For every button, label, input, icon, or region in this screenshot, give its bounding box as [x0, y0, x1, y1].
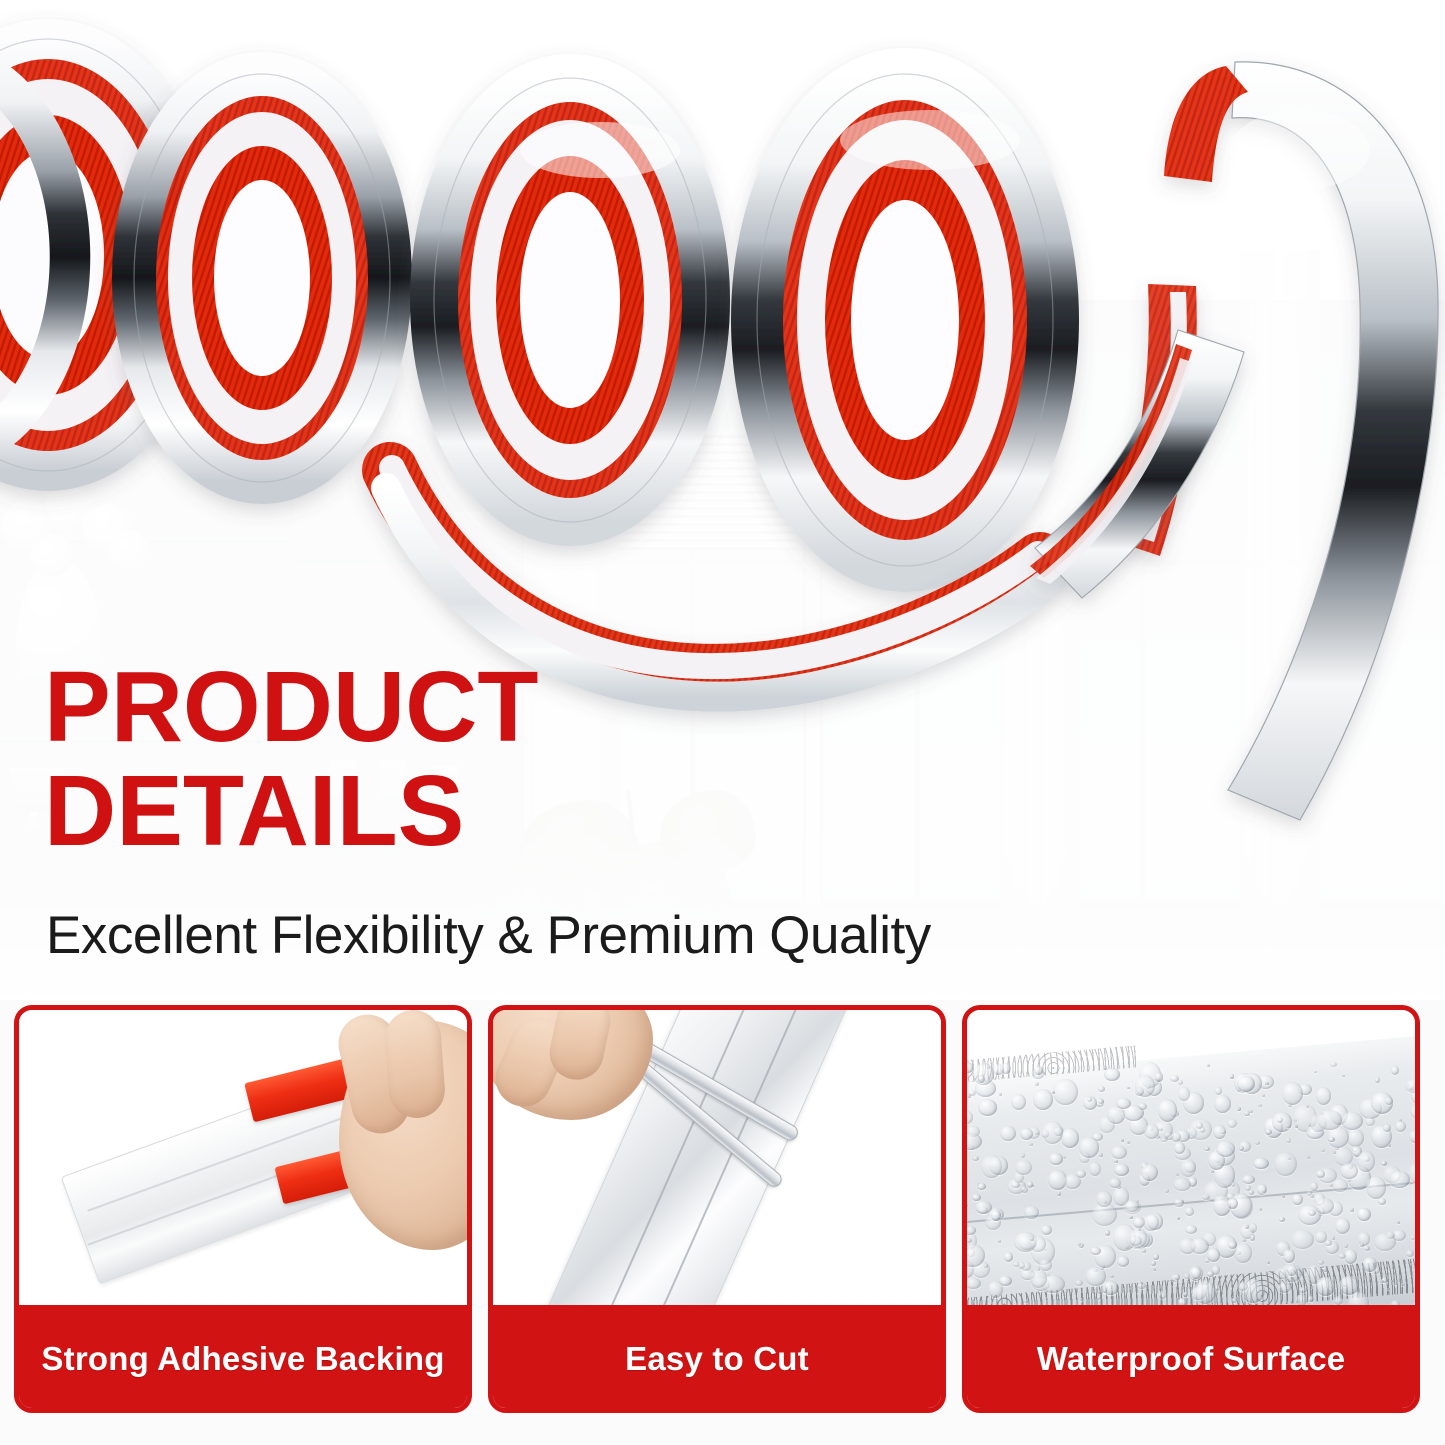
water-droplet: [1141, 1164, 1158, 1181]
water-droplet: [977, 1183, 986, 1190]
water-droplet: [1099, 1153, 1103, 1157]
feature-panel-adhesive[interactable]: Strong Adhesive Backing: [14, 1005, 472, 1413]
water-droplet: [1135, 1075, 1155, 1097]
water-droplet: [1158, 1099, 1177, 1122]
water-droplet: [1178, 1080, 1183, 1085]
hand-peeling-illustration: [19, 1010, 467, 1310]
water-droplet: [1332, 1179, 1348, 1193]
water-droplet: [1018, 1262, 1025, 1269]
water-droplet: [1125, 1201, 1140, 1212]
water-droplet: [1158, 1291, 1167, 1299]
water-droplet: [1117, 1256, 1130, 1267]
water-droplet: [1061, 1128, 1079, 1148]
water-droplet: [1231, 1298, 1237, 1303]
water-droplets-illustration: [967, 1010, 1415, 1310]
water-droplet: [1328, 1137, 1334, 1142]
water-droplet: [1308, 1210, 1316, 1216]
water-droplet: [1249, 1190, 1254, 1195]
water-droplet: [1234, 1243, 1252, 1263]
water-droplet: [1378, 1198, 1385, 1205]
water-droplet: [1267, 1261, 1270, 1264]
water-droplet: [1389, 1171, 1410, 1187]
water-droplet: [1357, 1151, 1375, 1172]
water-droplet: [1020, 1128, 1034, 1140]
water-droplet: [1079, 1137, 1099, 1158]
water-droplet: [1053, 1079, 1078, 1106]
panel-caption-waterproof: Waterproof Surface: [962, 1305, 1420, 1413]
water-droplet: [1291, 1230, 1314, 1248]
water-droplet: [1249, 1110, 1253, 1114]
water-droplet: [1174, 1142, 1185, 1154]
water-droplet: [1391, 1066, 1399, 1075]
water-droplet: [1286, 1138, 1291, 1143]
water-droplet: [1191, 1267, 1201, 1278]
water-droplet: [1102, 1281, 1119, 1295]
chrome-tape-spiral-illustration: [0, 0, 1445, 900]
water-droplet: [1394, 1283, 1397, 1285]
water-droplet: [1350, 1208, 1355, 1212]
water-droplet: [1174, 1199, 1184, 1207]
water-droplet: [1340, 1163, 1358, 1179]
water-droplet: [1097, 1295, 1101, 1300]
water-droplet: [1096, 1191, 1113, 1207]
water-droplet: [1316, 1087, 1332, 1105]
water-droplet: [1258, 1104, 1262, 1107]
water-droplet: [1138, 1227, 1141, 1231]
product-detail-banner: PRODUCT DETAILS Excellent Flexibility & …: [0, 0, 1445, 1445]
water-droplet: [1397, 1221, 1400, 1224]
water-droplet: [1314, 1198, 1334, 1214]
water-droplet: [1207, 1064, 1210, 1067]
water-droplet: [1401, 1283, 1405, 1287]
water-droplet: [1380, 1280, 1384, 1283]
water-droplet: [1033, 1089, 1053, 1109]
water-droplet: [1286, 1125, 1291, 1128]
water-droplet: [1374, 1233, 1396, 1251]
water-droplet: [1185, 1207, 1194, 1216]
water-droplet: [1292, 1194, 1303, 1205]
water-droplet: [1129, 1216, 1132, 1219]
feature-panel-easy-cut[interactable]: Easy to Cut: [488, 1005, 946, 1413]
scissors-cutting-illustration: [493, 1010, 941, 1310]
panel-caption-adhesive: Strong Adhesive Backing: [14, 1305, 472, 1413]
water-droplet: [1049, 1153, 1063, 1165]
water-droplet: [1114, 1164, 1129, 1176]
water-droplet: [1216, 1141, 1235, 1157]
water-droplet: [1180, 1159, 1196, 1177]
feature-panel-row: Strong Adhesive Backing: [0, 1005, 1445, 1417]
water-droplet: [1237, 1076, 1256, 1092]
water-droplet: [1042, 1121, 1063, 1144]
water-droplet: [1184, 1273, 1190, 1279]
water-droplet: [1342, 1075, 1345, 1078]
water-droplet: [978, 1099, 997, 1115]
water-droplet: [1237, 1107, 1241, 1111]
water-droplet: [1144, 1124, 1159, 1139]
water-droplet: [1308, 1296, 1314, 1302]
finger: [383, 1010, 446, 1120]
tape-loop-2: [134, 74, 390, 482]
water-droplet: [1410, 1235, 1415, 1240]
water-droplet: [1250, 1234, 1256, 1241]
water-droplet: [1204, 1147, 1210, 1152]
water-droplet: [1283, 1249, 1295, 1263]
water-droplet: [1265, 1129, 1272, 1135]
water-droplet: [1385, 1097, 1394, 1105]
water-droplet: [1104, 1068, 1120, 1081]
water-droplet: [1316, 1277, 1334, 1297]
water-droplet: [1109, 1178, 1120, 1189]
water-droplet: [967, 1204, 968, 1207]
water-droplet: [999, 1276, 1011, 1287]
feature-panel-waterproof[interactable]: Waterproof Surface: [962, 1005, 1420, 1413]
water-droplet: [1341, 1112, 1363, 1130]
water-droplet: [1245, 1225, 1249, 1229]
water-droplet: [1325, 1240, 1332, 1246]
water-droplet: [1360, 1243, 1365, 1247]
panel-photo-easy-cut: [493, 1010, 941, 1310]
subtitle: Excellent Flexibility & Premium Quality: [46, 905, 931, 967]
water-droplet: [991, 1210, 1001, 1221]
water-droplet: [1338, 1253, 1346, 1260]
water-droplet: [1000, 1126, 1016, 1142]
water-droplet: [1307, 1156, 1310, 1159]
water-droplet: [1348, 1179, 1351, 1182]
water-droplet: [972, 1156, 979, 1161]
water-droplet: [1107, 1106, 1124, 1123]
water-droplet: [1030, 1237, 1034, 1241]
water-droplet: [1406, 1250, 1414, 1257]
water-droplet: [1110, 1275, 1114, 1278]
water-droplet: [1363, 1257, 1377, 1272]
water-droplet: [1255, 1141, 1260, 1145]
water-droplet: [1063, 1156, 1066, 1159]
water-droplet: [1143, 1214, 1159, 1231]
water-droplet: [1127, 1087, 1130, 1089]
water-droplet: [1183, 1292, 1188, 1298]
water-droplet: [1021, 1186, 1028, 1193]
water-droplet: [1388, 1144, 1391, 1147]
water-droplet: [1021, 1153, 1025, 1158]
water-droplet: [1127, 1141, 1130, 1144]
water-droplet: [1024, 1206, 1039, 1219]
water-droplet: [1105, 1230, 1111, 1236]
water-droplet: [1265, 1082, 1268, 1084]
water-droplet: [1308, 1123, 1312, 1127]
water-droplet: [1287, 1265, 1297, 1276]
water-droplet: [978, 1075, 985, 1083]
water-droplet: [1231, 1182, 1235, 1187]
water-droplet: [1114, 1160, 1118, 1163]
water-droplet: [1111, 1146, 1127, 1159]
water-droplet: [1262, 1188, 1266, 1192]
water-droplet: [1279, 1217, 1285, 1222]
water-droplet: [1409, 1130, 1415, 1143]
water-droplet: [999, 1093, 1002, 1096]
water-droplet: [1249, 1223, 1258, 1233]
water-droplet: [1317, 1110, 1342, 1131]
water-droplet: [1329, 1184, 1333, 1187]
water-droplet: [1381, 1161, 1387, 1166]
water-droplet: [1245, 1185, 1251, 1191]
panel-photo-adhesive: [19, 1010, 467, 1310]
water-droplet: [998, 1240, 1001, 1243]
hero-product-image: [0, 0, 1445, 900]
panel-caption-easy-cut: Easy to Cut: [488, 1305, 946, 1413]
water-droplet: [1103, 1289, 1107, 1292]
water-droplet: [1330, 1062, 1336, 1067]
panel-photo-waterproof: [967, 1010, 1415, 1310]
water-droplet: [1011, 1094, 1026, 1110]
water-droplet: [1332, 1236, 1335, 1240]
water-droplet: [1034, 1066, 1043, 1075]
water-droplet: [1315, 1231, 1326, 1243]
water-droplet: [1000, 1063, 1011, 1074]
water-droplet: [967, 1226, 976, 1235]
water-droplet: [1029, 1143, 1032, 1146]
